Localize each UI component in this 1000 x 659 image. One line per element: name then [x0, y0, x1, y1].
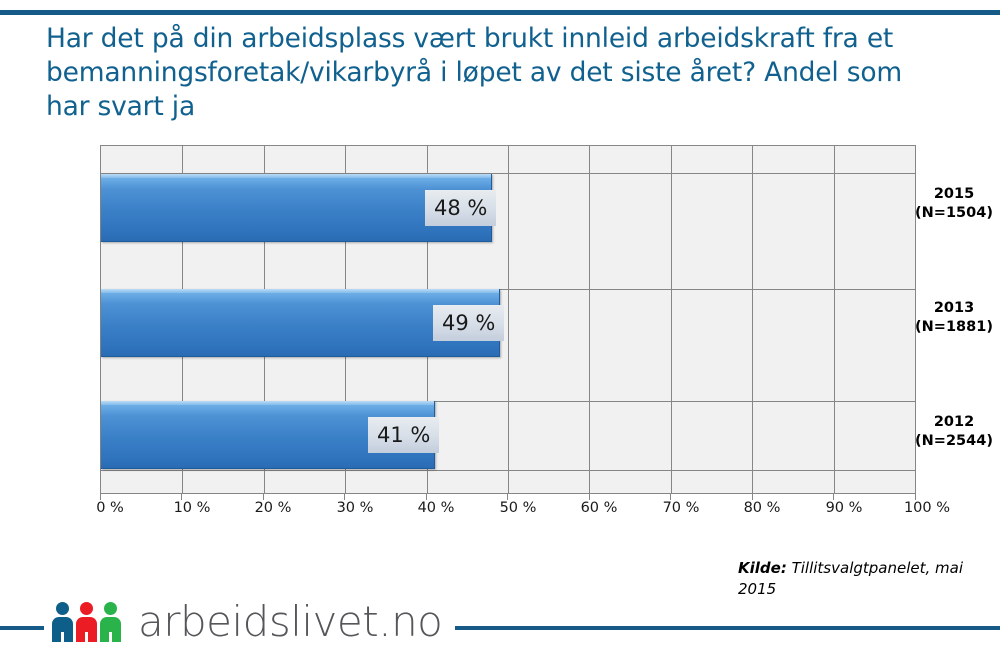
arbeidslivet-logo[interactable]: arbeidslivet.no	[52, 594, 442, 650]
category-n-2013: (N=1881)	[908, 318, 1000, 337]
category-n-2015: (N=1504)	[908, 204, 1000, 223]
xtick-label-50: 50 %	[500, 500, 537, 516]
bar-value-label-2012: 41 %	[368, 417, 439, 453]
footer-rule-right	[455, 626, 1000, 630]
footer-rule-left	[0, 626, 44, 630]
gridline-vertical	[752, 146, 753, 493]
xtick-label-90: 90 %	[826, 500, 863, 516]
xtick-label-100: 100 %	[904, 500, 950, 516]
gridline-vertical	[589, 146, 590, 493]
xtick-label-80: 80 %	[744, 500, 781, 516]
person-icon-red	[76, 602, 97, 642]
category-label-2013: 2013 (N=1881)	[908, 299, 1000, 337]
category-n-2012: (N=2544)	[908, 432, 1000, 451]
gridline-vertical	[671, 146, 672, 493]
person-icon-blue	[52, 602, 73, 642]
gridline-horizontal	[101, 470, 915, 471]
logo-text: arbeidslivet.no	[138, 599, 442, 645]
category-label-2015: 2015 (N=1504)	[908, 185, 1000, 223]
xtick-label-30: 30 %	[337, 500, 374, 516]
person-icon-green	[100, 602, 121, 642]
category-year-2013: 2013	[908, 299, 1000, 318]
chart-title: Har det på din arbeidsplass vært brukt i…	[46, 22, 946, 124]
gridline-vertical	[834, 146, 835, 493]
source-note: Kilde: Tillitsvalgtpanelet, mai 2015	[738, 558, 968, 600]
xtick-label-0: 0 %	[96, 500, 124, 516]
source-label: Kilde:	[738, 559, 787, 577]
category-label-2012: 2012 (N=2544)	[908, 413, 1000, 451]
xtick-label-20: 20 %	[255, 500, 292, 516]
category-year-2015: 2015	[908, 185, 1000, 204]
gridline-vertical	[508, 146, 509, 493]
xtick-label-10: 10 %	[174, 500, 211, 516]
xtick-label-40: 40 %	[418, 500, 455, 516]
xtick-label-70: 70 %	[663, 500, 700, 516]
chart-plot-area: 48 % 49 % 41 %	[100, 145, 916, 494]
category-year-2012: 2012	[908, 413, 1000, 432]
bar-value-label-2015: 48 %	[425, 190, 496, 226]
bar-value-label-2013: 49 %	[433, 305, 504, 341]
top-divider-rule	[0, 10, 1000, 15]
xtick-label-60: 60 %	[581, 500, 618, 516]
